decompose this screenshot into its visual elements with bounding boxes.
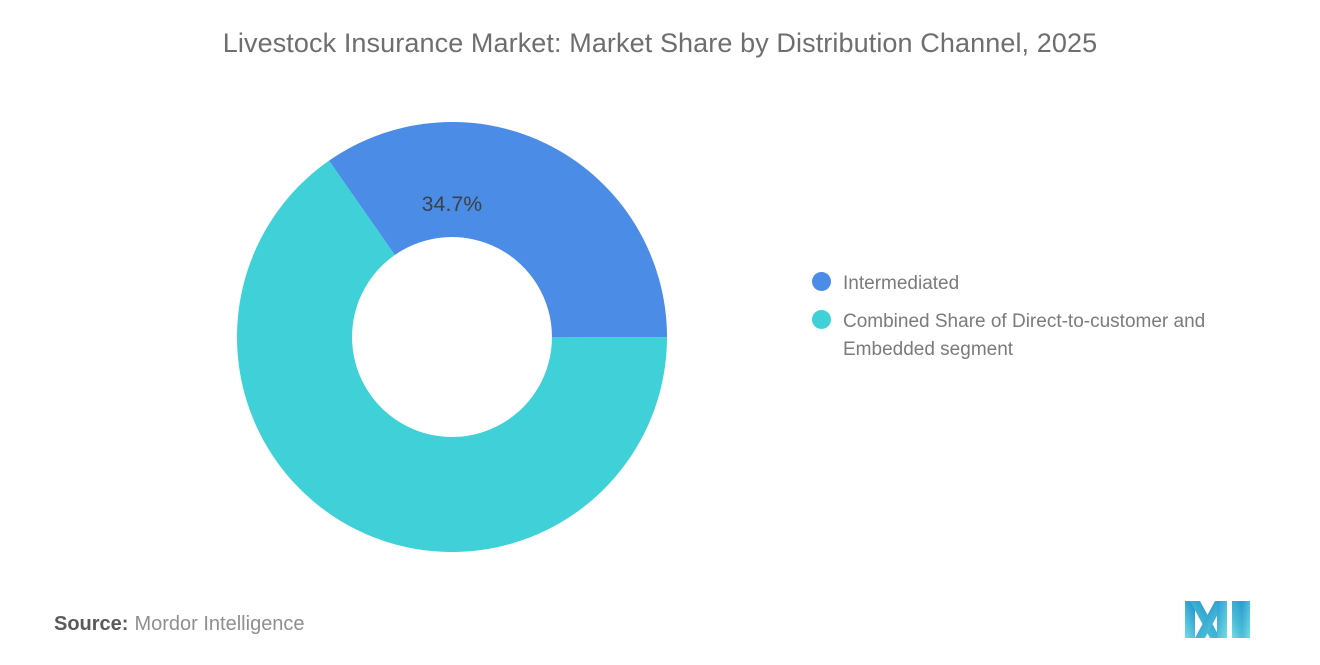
- source-label: Source:: [54, 613, 128, 635]
- source-value: Mordor Intelligence: [134, 613, 304, 635]
- chart-legend: Intermediated Combined Share of Direct-t…: [812, 270, 1292, 374]
- donut-chart-svg: [237, 122, 667, 552]
- legend-swatch-icon: [812, 310, 831, 329]
- donut-chart: [237, 122, 667, 552]
- legend-item-label: Intermediated: [843, 270, 959, 298]
- legend-item-combined-direct-embedded[interactable]: Combined Share of Direct-to-customer and…: [812, 308, 1292, 364]
- donut-slice-intermediated[interactable]: [329, 122, 667, 337]
- donut-slice-value-label: 34.7%: [422, 193, 483, 217]
- mordor-intelligence-logo-icon: [1184, 600, 1252, 639]
- legend-swatch-icon: [812, 272, 831, 291]
- donut-slices: [237, 122, 667, 552]
- source-attribution: Source:Mordor Intelligence: [54, 613, 305, 636]
- page-title: Livestock Insurance Market: Market Share…: [0, 28, 1320, 59]
- legend-item-intermediated[interactable]: Intermediated: [812, 270, 1292, 298]
- legend-item-label: Combined Share of Direct-to-customer and…: [843, 308, 1275, 364]
